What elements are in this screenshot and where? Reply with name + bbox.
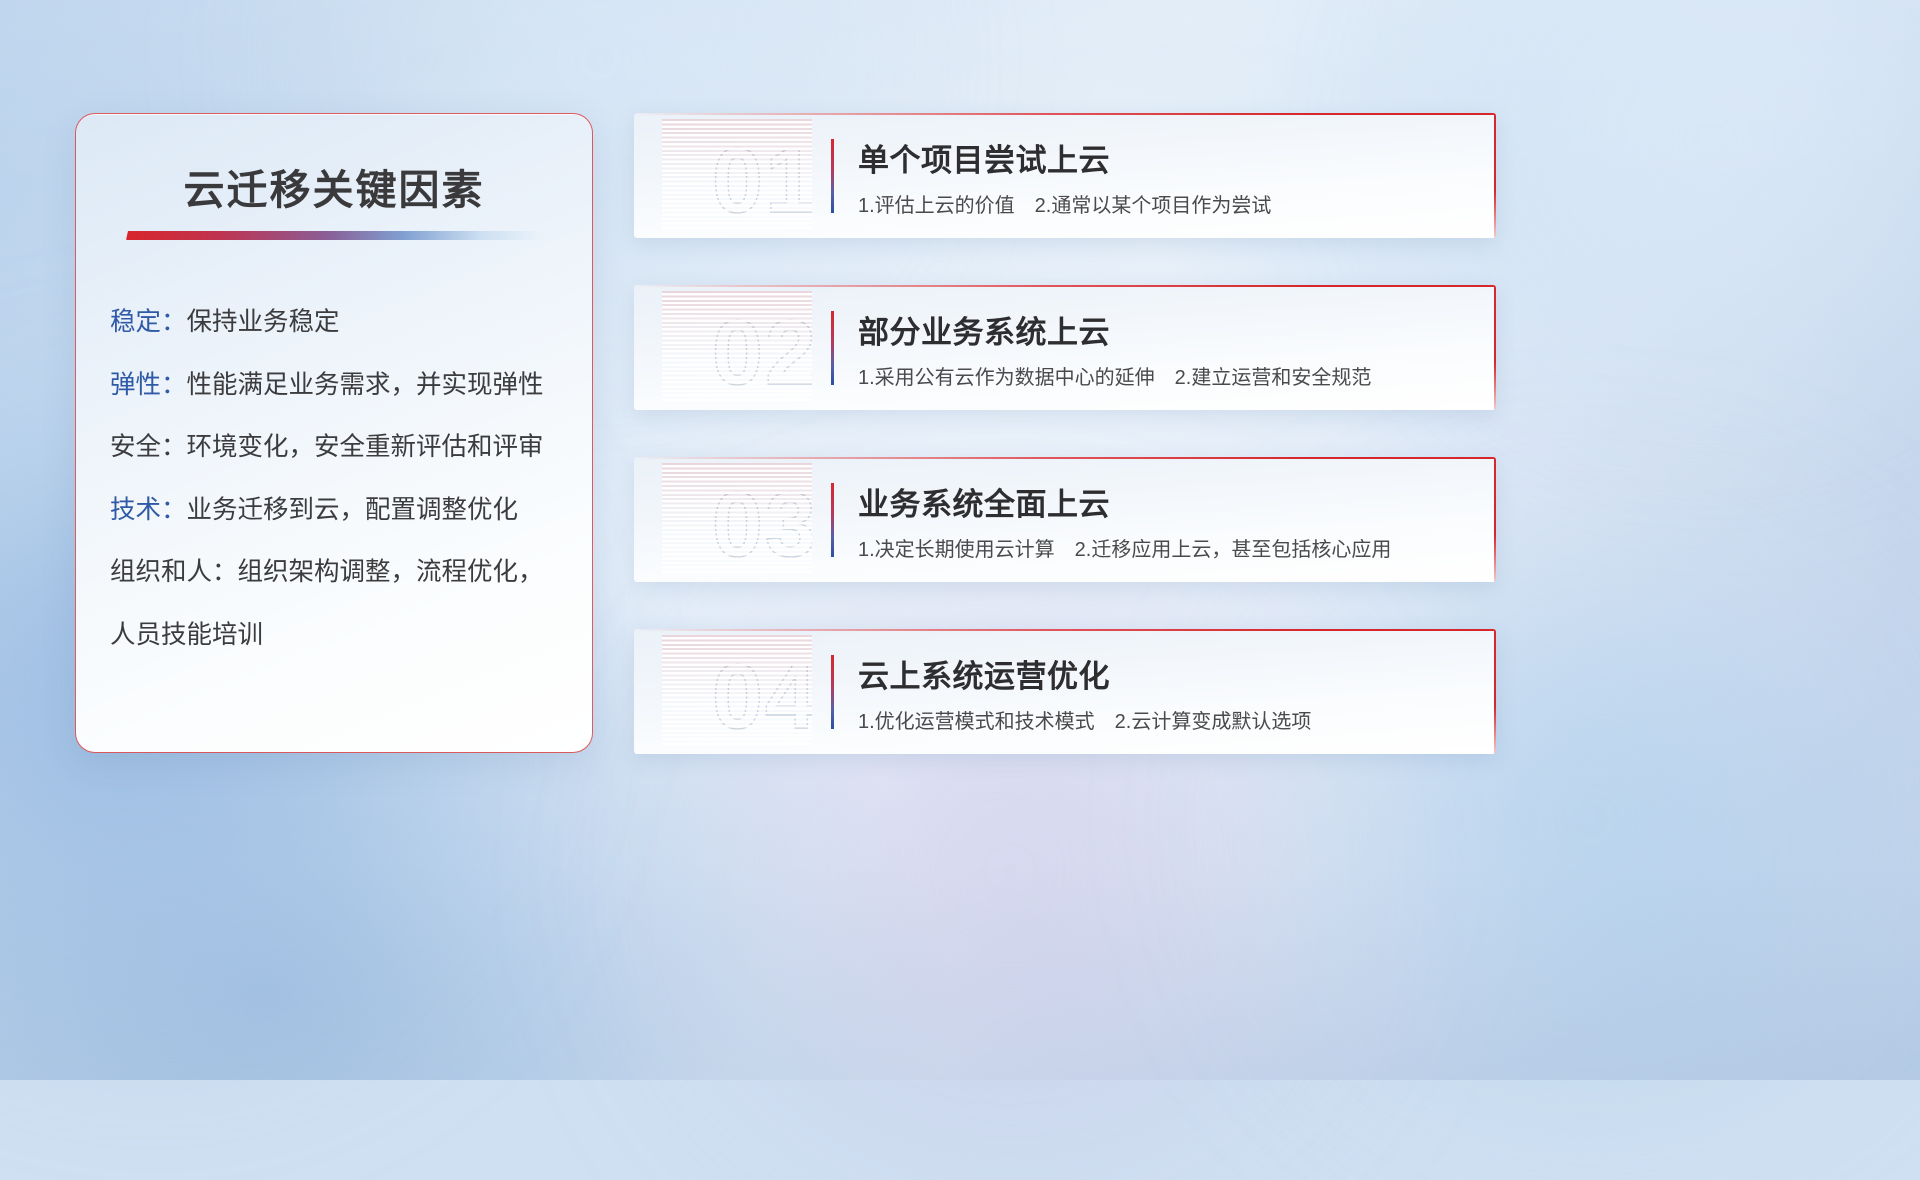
step-card[interactable]: 03 业务系统全面上云 1.决定长期使用云计算 2.迁移应用上云，甚至包括核心应… <box>634 457 1496 582</box>
step-subtitle: 1.采用公有云作为数据中心的延伸 2.建立运营和安全规范 <box>858 361 1371 390</box>
key-factor-line: 人员技能培训 <box>110 623 568 649</box>
step-number: 02 <box>690 299 812 403</box>
key-factor-line: 稳定：保持业务稳定 <box>110 310 568 336</box>
step-accent-bar <box>831 311 834 385</box>
step-title: 云上系统运营优化 <box>858 651 1110 696</box>
key-factor-text: 组织架构调整，流程优化， <box>238 558 544 586</box>
step-title: 部分业务系统上云 <box>858 307 1110 352</box>
key-factor-label: 弹性： <box>110 371 187 399</box>
key-factor-line: 技术：业务迁移到云，配置调整优化 <box>110 498 568 524</box>
step-number: 01 <box>690 127 812 231</box>
key-factor-text: 环境变化，安全重新评估和评审 <box>187 433 544 461</box>
step-number: 04 <box>690 643 812 747</box>
step-accent-bar <box>831 655 834 729</box>
step-number: 03 <box>690 471 812 575</box>
step-number-graphic: 01 <box>662 119 812 231</box>
step-card[interactable]: 04 云上系统运营优化 1.优化运营模式和技术模式 2.云计算变成默认选项 <box>634 629 1496 754</box>
key-factor-line: 组织和人：组织架构调整，流程优化， <box>110 560 568 586</box>
step-subtitle: 1.评估上云的价值 2.通常以某个项目作为尝试 <box>858 189 1271 218</box>
step-subtitle: 1.决定长期使用云计算 2.迁移应用上云，甚至包括核心应用 <box>858 533 1391 562</box>
slide-stage: 云迁移关键因素 稳定：保持业务稳定 弹性：性能满足业务需求，并实现弹性 安全：环… <box>0 0 1920 1080</box>
key-factor-text: 人员技能培训 <box>110 621 263 649</box>
key-factor-label: 组织和人： <box>110 558 238 586</box>
step-accent-bar <box>831 139 834 213</box>
key-factor-text: 保持业务稳定 <box>187 308 340 336</box>
step-number-graphic: 02 <box>662 291 812 403</box>
key-factor-line: 安全：环境变化，安全重新评估和评审 <box>110 435 568 461</box>
title-underline-bar <box>126 231 544 240</box>
step-title: 业务系统全面上云 <box>858 479 1110 524</box>
step-number-graphic: 04 <box>662 635 812 747</box>
key-factor-label: 技术： <box>110 496 187 524</box>
step-card[interactable]: 02 部分业务系统上云 1.采用公有云作为数据中心的延伸 2.建立运营和安全规范 <box>634 285 1496 410</box>
key-factors-panel: 云迁移关键因素 稳定：保持业务稳定 弹性：性能满足业务需求，并实现弹性 安全：环… <box>75 113 593 753</box>
step-title: 单个项目尝试上云 <box>858 135 1110 180</box>
key-factor-text: 性能满足业务需求，并实现弹性 <box>187 371 544 399</box>
key-factors-list: 稳定：保持业务稳定 弹性：性能满足业务需求，并实现弹性 安全：环境变化，安全重新… <box>110 310 568 648</box>
key-factor-label: 安全： <box>110 433 187 461</box>
panel-title: 云迁移关键因素 <box>76 156 592 216</box>
step-card[interactable]: 01 单个项目尝试上云 1.评估上云的价值 2.通常以某个项目作为尝试 <box>634 113 1496 238</box>
step-number-graphic: 03 <box>662 463 812 575</box>
key-factor-text: 业务迁移到云，配置调整优化 <box>187 496 519 524</box>
key-factor-label: 稳定： <box>110 308 187 336</box>
key-factor-line: 弹性：性能满足业务需求，并实现弹性 <box>110 373 568 399</box>
step-subtitle: 1.优化运营模式和技术模式 2.云计算变成默认选项 <box>858 705 1311 734</box>
step-accent-bar <box>831 483 834 557</box>
